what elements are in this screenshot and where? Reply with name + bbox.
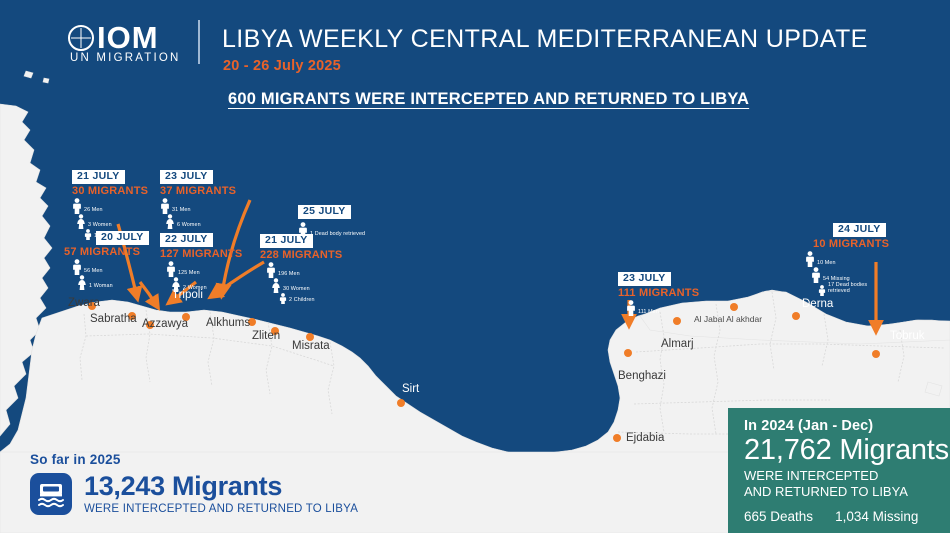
event-date-chip: 23 JULY bbox=[618, 272, 671, 286]
event-total: 37 MIGRANTS bbox=[160, 185, 236, 197]
dot-almarj[interactable] bbox=[673, 317, 681, 325]
breakdown-label: 125 Men bbox=[178, 271, 200, 277]
label-derna: Derna bbox=[802, 298, 833, 310]
footer-right-deaths: 665 Deaths bbox=[744, 509, 813, 524]
event-breakdown-row: 31 Men bbox=[160, 198, 236, 214]
woman-icon bbox=[271, 278, 281, 293]
label-sirt: Sirt bbox=[402, 383, 419, 395]
man-icon bbox=[72, 198, 82, 214]
event-card-tripoli-23july: 23 JULY 37 MIGRANTS 31 Men 6 Women bbox=[160, 166, 236, 229]
dot-aljabal[interactable] bbox=[730, 303, 738, 311]
breakdown-label: 196 Men bbox=[278, 272, 300, 278]
footer-right-total: 21,762 Migrants bbox=[744, 435, 950, 465]
woman-icon bbox=[171, 277, 181, 292]
event-card-tobruk-24july: 24 JULY 10 MIGRANTS 10 Men 54 Missing 17… bbox=[805, 219, 889, 296]
man-icon bbox=[818, 285, 826, 296]
child-icon bbox=[279, 293, 287, 304]
label-benghazi: Benghazi bbox=[618, 370, 666, 382]
event-breakdown-row: 54 Missing bbox=[811, 267, 889, 283]
event-breakdown-row: 125 Men bbox=[166, 261, 242, 277]
dot-benghazi[interactable] bbox=[624, 349, 632, 357]
event-date-chip: 21 JULY bbox=[260, 234, 313, 248]
breakdown-label: 1 Woman bbox=[89, 284, 113, 290]
breakdown-label: 2 Women bbox=[183, 286, 207, 292]
label-ejdabia: Ejdabia bbox=[626, 432, 664, 444]
footer-right-panel: In 2024 (Jan - Dec) 21,762 Migrants WERE… bbox=[728, 408, 950, 533]
dot-sirt[interactable] bbox=[397, 399, 405, 407]
event-card-benghazi-23july: 23 JULY 111 MIGRANTS 111 Men bbox=[618, 268, 699, 316]
footer-right-kicker: In 2024 (Jan - Dec) bbox=[744, 418, 950, 434]
man-icon bbox=[811, 267, 821, 283]
breakdown-label: 2 Children bbox=[289, 298, 315, 304]
event-breakdown-row: 196 Men bbox=[266, 262, 342, 278]
event-breakdown-row: 10 Men bbox=[805, 251, 889, 267]
footer-right-subtitle-line1: WERE INTERCEPTED bbox=[744, 468, 950, 484]
footer-right-subtitle-line2: AND RETURNED TO LIBYA bbox=[744, 484, 950, 500]
footer-left-panel: So far in 2025 13,243 Migrants WERE INTE… bbox=[30, 452, 358, 515]
woman-icon bbox=[165, 214, 175, 229]
event-card-tripoli-21july: 21 JULY 228 MIGRANTS 196 Men 30 Women 2 … bbox=[260, 230, 342, 304]
event-date-chip: 23 JULY bbox=[160, 170, 213, 184]
label-misrata: Misrata bbox=[292, 340, 330, 352]
event-total: 30 MIGRANTS bbox=[72, 185, 148, 197]
dot-ejdabia[interactable] bbox=[613, 434, 621, 442]
label-alkhums: Alkhums bbox=[206, 317, 250, 329]
event-breakdown-row: 26 Men bbox=[72, 198, 148, 214]
dot-tobruk[interactable] bbox=[872, 350, 880, 358]
footer-left-subtitle: WERE INTERCEPTED AND RETURNED TO LIBYA bbox=[84, 503, 358, 515]
event-breakdown-row: 1 Woman bbox=[77, 275, 149, 290]
event-total: 228 MIGRANTS bbox=[260, 249, 342, 261]
event-date-chip: 24 JULY bbox=[833, 223, 886, 237]
label-zwara: Zwara bbox=[68, 297, 100, 309]
man-icon bbox=[266, 262, 276, 278]
footer-right-missing: 1,034 Missing bbox=[835, 509, 918, 524]
event-total: 111 MIGRANTS bbox=[618, 287, 699, 299]
event-card-azzawya-22july: 22 JULY 127 MIGRANTS 125 Men 2 Women bbox=[160, 229, 242, 292]
breakdown-label: 111 Men bbox=[638, 310, 659, 316]
boat-icon bbox=[30, 473, 72, 515]
man-icon bbox=[72, 259, 82, 275]
man-icon bbox=[626, 300, 636, 316]
breakdown-label: 26 Men bbox=[84, 208, 103, 214]
event-breakdown-row: 2 Children bbox=[279, 293, 342, 304]
man-icon bbox=[805, 251, 815, 267]
man-icon bbox=[160, 198, 170, 214]
event-total: 10 MIGRANTS bbox=[813, 238, 889, 250]
label-sabratha: Sabratha bbox=[90, 313, 137, 325]
footer-left-kicker: So far in 2025 bbox=[30, 452, 358, 467]
label-aljabal: Al Jabal Al akhdar bbox=[694, 314, 762, 324]
man-icon bbox=[166, 261, 176, 277]
label-zliten: Zliten bbox=[252, 330, 280, 342]
event-date-chip: 20 JULY bbox=[96, 231, 149, 245]
label-azzawya: Azzawya bbox=[142, 318, 188, 330]
label-almarj: Almarj bbox=[661, 338, 694, 350]
label-tobruk: Tobruk bbox=[890, 330, 925, 342]
event-breakdown-row: 111 Men bbox=[626, 300, 699, 316]
event-breakdown-row: 30 Women bbox=[271, 278, 342, 293]
breakdown-label: 17 Dead bodies retrieved bbox=[828, 283, 868, 296]
event-total: 127 MIGRANTS bbox=[160, 248, 242, 260]
breakdown-label: 30 Women bbox=[283, 287, 310, 293]
event-date-chip: 22 JULY bbox=[160, 233, 213, 247]
event-total: 57 MIGRANTS bbox=[64, 246, 149, 258]
dot-derna[interactable] bbox=[792, 312, 800, 320]
event-breakdown-row: 2 Women bbox=[171, 277, 242, 292]
event-breakdown-row: 17 Dead bodies retrieved bbox=[818, 283, 889, 296]
event-card-sabratha-20july: 20 JULY 57 MIGRANTS 56 Men 1 Woman bbox=[64, 227, 149, 290]
event-breakdown-row: 56 Men bbox=[72, 259, 149, 275]
event-date-chip: 25 JULY bbox=[298, 205, 351, 219]
footer-left-total: 13,243 Migrants bbox=[84, 473, 358, 500]
woman-icon bbox=[77, 275, 87, 290]
event-date-chip: 21 JULY bbox=[72, 170, 125, 184]
event-breakdown-row: 6 Women bbox=[165, 214, 236, 229]
infographic-root: IOM UN MIGRATION LIBYA WEEKLY CENTRAL ME… bbox=[0, 0, 950, 533]
